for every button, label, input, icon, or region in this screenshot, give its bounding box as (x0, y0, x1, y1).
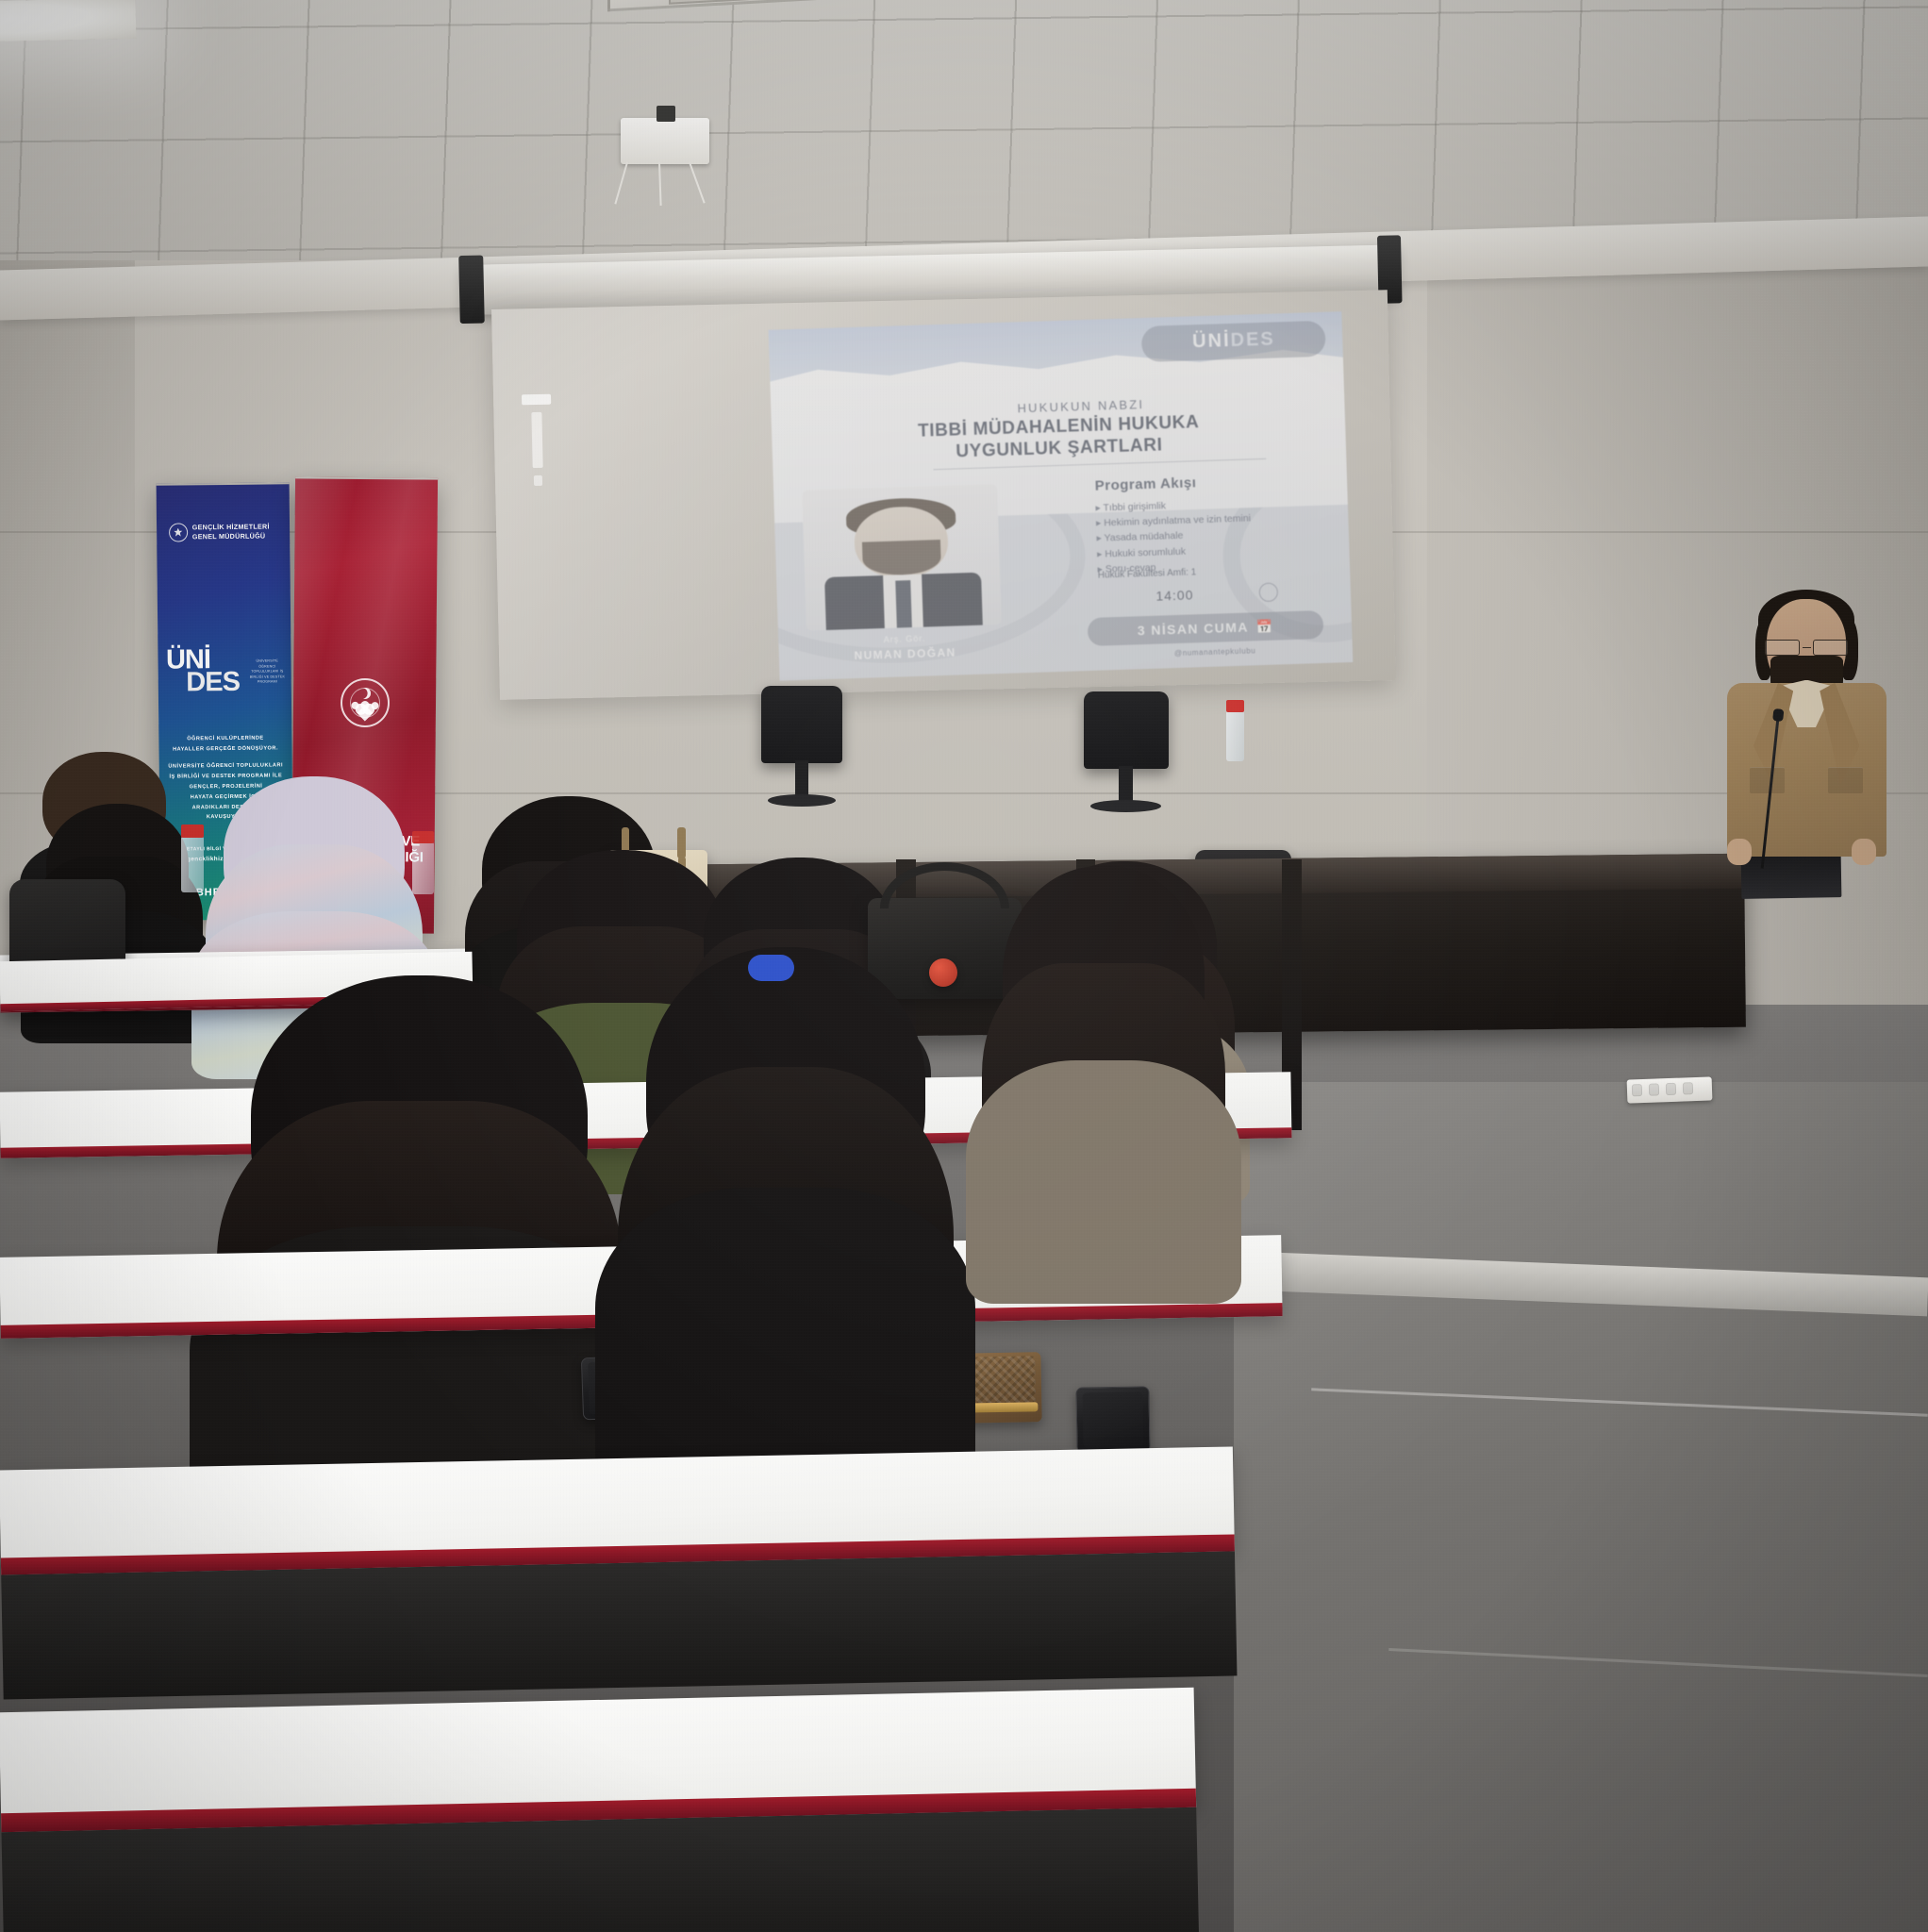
banner-ministry-text: GENÇLİK HİZMETLERİ GENEL MÜDÜRLÜĞÜ (191, 523, 269, 541)
portrait-tie (895, 579, 912, 627)
poster-date: 3 NİSAN CUMA (1137, 619, 1248, 638)
jacket-pocket (1828, 767, 1863, 794)
presenter-hand (1727, 839, 1752, 866)
smartphone-right[interactable] (1075, 1387, 1150, 1454)
poster-speaker-title: Arş. Gör. (883, 633, 925, 643)
ceiling-light-panel (0, 0, 138, 42)
attendee-body (966, 1060, 1241, 1304)
power-strip (1627, 1076, 1713, 1103)
poster-speaker-portrait (802, 484, 1002, 631)
poster-logo-prefix: ÜNİ (1192, 330, 1231, 353)
poster-time: 14:00 (1155, 587, 1194, 603)
banner-ministry-header: GENÇLİK HİZMETLERİ GENEL MÜDÜRLÜĞÜ (168, 522, 280, 541)
body-line-3: ÜNİVERSİTE ÖĞRENCİ TOPLULUKLARI (168, 762, 283, 769)
roller-end-cap (458, 256, 484, 324)
projected-event-poster: ÜNİDES HUKUKUN NABZI TIBBİ MÜDAHALENİN H… (768, 311, 1353, 681)
projection-screen: ÜNİDES HUKUKUN NABZI TIBBİ MÜDAHALENİN H… (491, 290, 1396, 699)
attendee-7 (646, 947, 925, 1449)
water-bottle[interactable] (181, 837, 204, 892)
ministry-seal-icon (168, 523, 187, 541)
poster-date-pill: 3 NİSAN CUMA 📅 (1088, 610, 1323, 646)
projector-artefact-icon (523, 393, 554, 511)
poster-footer-handle: @numanantepkulubu (1089, 643, 1341, 660)
wordmark-des: DES (186, 671, 257, 694)
chair-center[interactable] (1084, 691, 1169, 769)
poster-logo-suffix: DES (1230, 328, 1275, 352)
eyeglasses-icon (1765, 640, 1848, 656)
presenter-hand (1852, 839, 1876, 866)
desk-panel (1, 1551, 1237, 1700)
heart-icon (357, 706, 373, 722)
student-desk-row4 (0, 1447, 1235, 1575)
floor-right-aisle (1234, 1082, 1928, 1932)
poster-unides-logo: ÜNİDES (1141, 321, 1326, 361)
banner-rail (156, 482, 291, 486)
ministry-line-2: GENEL MÜDÜRLÜĞÜ (191, 531, 265, 541)
clock-icon (1258, 582, 1278, 602)
jacket-pocket (1750, 767, 1785, 794)
wifi-access-point (621, 118, 709, 164)
crescent-icon (358, 688, 370, 699)
poster-speaker-name: NUMAN DOĞAN (790, 641, 1021, 666)
attendee-7-front (251, 975, 589, 1497)
lecture-hall-photo: ÜNİDES HUKUKUN NABZI TIBBİ MÜDAHALENİN H… (0, 0, 1928, 1932)
body-line-1: ÖĞRENCİ KULÜPLERİNDE (187, 736, 264, 742)
presenter (1723, 599, 1889, 898)
student-desk-row5 (0, 1688, 1196, 1832)
attendee-8b (1003, 866, 1205, 1272)
microphone-head (1771, 708, 1784, 722)
banner-micro-text: ÜNİVERSİTE ÖĞRENCİ TOPLULUKLARI İŞ BİRLİ… (247, 659, 288, 685)
banner-wordmark: ÜNİ DES (165, 649, 256, 695)
bag-charm (929, 958, 957, 987)
water-bottle[interactable] (412, 842, 433, 894)
attendee-body (595, 1188, 975, 1489)
chair-left[interactable] (761, 686, 842, 763)
ministry-emblem-icon (340, 677, 389, 726)
body-line-2: HAYALLER GERÇEĞE DÖNÜŞÜYOR. (173, 745, 278, 752)
water-bottle[interactable] (1226, 711, 1244, 761)
calendar-icon: 📅 (1255, 618, 1273, 635)
blue-hair-tie (748, 955, 794, 982)
